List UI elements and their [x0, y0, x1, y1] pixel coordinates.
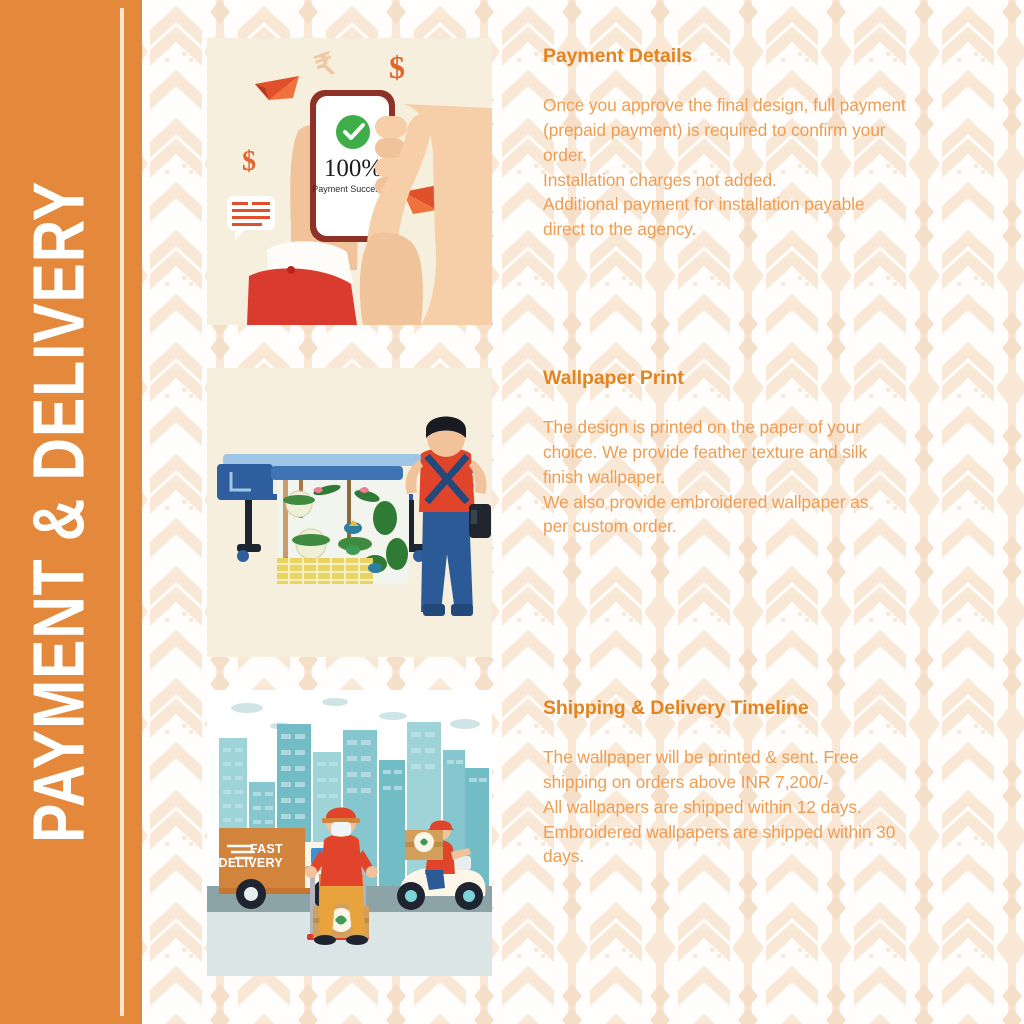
dollar-symbol-1: $ [389, 49, 405, 85]
shipping-delivery-text-column: Shipping & Delivery Timeline The wallpap… [543, 698, 963, 869]
payment-success-phone-illustration: ₹ $ ₹ $ [207, 38, 492, 325]
section-payment-details: ₹ $ ₹ $ [142, 38, 1024, 338]
section-title-payment-details: Payment Details [543, 46, 963, 67]
sidebar-banner: PAYMENT & DELIVERY [0, 0, 142, 1024]
body-line: finish wallpaper. [543, 465, 963, 490]
percent-label: 100% [324, 155, 382, 182]
sidebar-title-container: PAYMENT & DELIVERY [0, 0, 120, 1024]
printed-wallpaper-sheet [277, 480, 409, 584]
city-delivery-illustration: FAST DELIVERY [207, 690, 492, 976]
section-wallpaper-print: Wallpaper Print The design is printed on… [142, 368, 1024, 668]
payment-details-text-column: Payment Details Once you approve the fin… [543, 46, 963, 242]
section-body-shipping-delivery: The wallpaper will be printed & sent. Fr… [543, 745, 963, 869]
success-check-icon [336, 115, 370, 149]
section-body-wallpaper-print: The design is printed on the paper of yo… [543, 415, 963, 539]
body-line: days. [543, 844, 963, 869]
body-line: choice. We provide feather texture and s… [543, 440, 963, 465]
body-line: The design is printed on the paper of yo… [543, 415, 963, 440]
body-line: order. [543, 143, 963, 168]
wide-format-printer-illustration [207, 368, 492, 657]
body-line: direct to the agency. [543, 217, 963, 242]
wallpaper-print-text-column: Wallpaper Print The design is printed on… [543, 368, 963, 539]
section-title-wallpaper-print: Wallpaper Print [543, 368, 963, 389]
body-line: Once you approve the final design, full … [543, 93, 963, 118]
body-line: The wallpaper will be printed & sent. Fr… [543, 745, 963, 770]
truck-label-line2: DELIVERY [219, 856, 284, 870]
section-body-payment-details: Once you approve the final design, full … [543, 93, 963, 241]
body-line: Additional payment for installation paya… [543, 192, 963, 217]
page-title: PAYMENT & DELIVERY [24, 181, 96, 843]
dollar-symbol-2: $ [242, 146, 256, 177]
body-line: We also provide embroidered wallpaper as [543, 490, 963, 515]
section-shipping-delivery: FAST DELIVERY [142, 690, 1024, 990]
body-line: All wallpapers are shipped within 12 day… [543, 795, 963, 820]
body-line: Installation charges not added. [543, 168, 963, 193]
content-area: ₹ $ ₹ $ [142, 0, 1024, 1024]
body-line: Embroidered wallpapers are shipped withi… [543, 820, 963, 845]
sidebar-vertical-rule [120, 8, 124, 1016]
body-line: (prepaid payment) is required to confirm… [543, 118, 963, 143]
section-title-shipping-delivery: Shipping & Delivery Timeline [543, 698, 963, 719]
body-line: per custom order. [543, 514, 963, 539]
body-line: shipping on orders above INR 7,200/- [543, 770, 963, 795]
infographic-page: PAYMENT & DELIVERY ₹ $ ₹ $ [0, 0, 1024, 1024]
truck-label-line1: FAST [250, 842, 283, 856]
face-mask [331, 822, 351, 836]
